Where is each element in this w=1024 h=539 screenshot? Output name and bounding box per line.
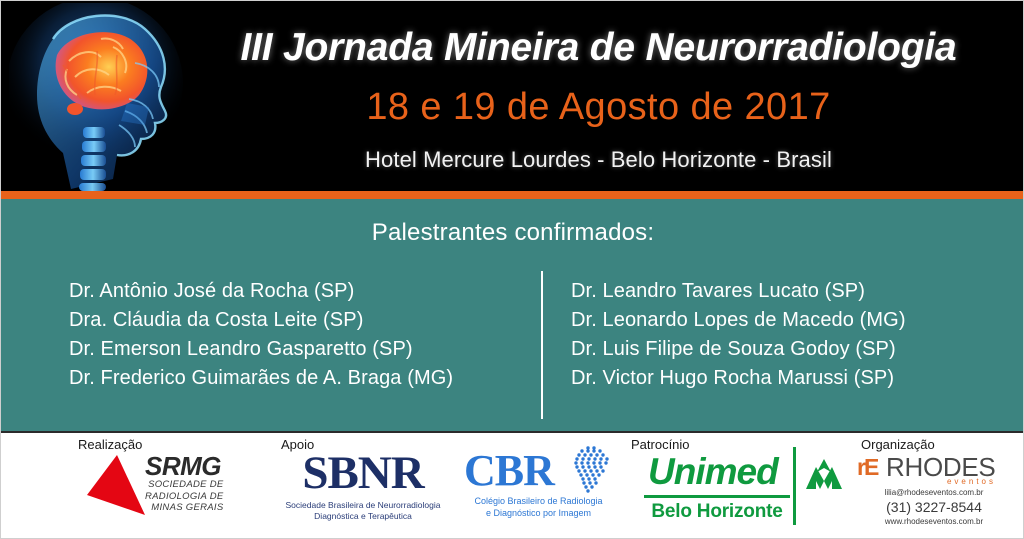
speaker-item: Dr. Emerson Leandro Gasparetto (SP) — [69, 335, 513, 364]
event-poster: III Jornada Mineira de Neurorradiologia … — [0, 0, 1024, 539]
speaker-item: Dr. Frederico Guimarães de A. Braga (MG) — [69, 364, 513, 393]
cbr-subtitle: Colégio Brasileiro de Radiologia e Diagn… — [456, 495, 621, 519]
speaker-item: Dra. Cláudia da Costa Leite (SP) — [69, 306, 513, 335]
srmg-wordmark: SRMG SOCIEDADE DE RADIOLOGIA DE MINAS GE… — [145, 453, 224, 514]
sponsor-slot-cbr: CBR — [456, 433, 621, 539]
brazil-map-dots-icon — [566, 445, 612, 497]
speaker-item: Dr. Antônio José da Rocha (SP) — [69, 277, 513, 306]
unimed-caption: Patrocínio — [631, 437, 690, 452]
sponsor-slot-srmg: Realização SRMG SOCIEDADE DE RADIOLOGIA … — [61, 433, 261, 539]
sbnr-name: SBNR — [273, 449, 453, 497]
unimed-name: Unimed — [648, 453, 778, 491]
unimed-vertical-rule — [793, 447, 796, 525]
rhodes-re-monogram-icon: rE — [857, 455, 887, 479]
speakers-column-left: Dr. Antônio José da Rocha (SP) Dra. Cláu… — [1, 277, 513, 407]
speaker-item: Dr. Luis Filipe de Souza Godoy (SP) — [571, 335, 1024, 364]
speakers-column-right: Dr. Leandro Tavares Lucato (SP) Dr. Leon… — [513, 277, 1024, 407]
orange-divider-bar — [1, 191, 1024, 199]
cbr-subtitle-line: Colégio Brasileiro de Radiologia — [456, 495, 621, 507]
sponsors-footer: Realização SRMG SOCIEDADE DE RADIOLOGIA … — [1, 433, 1024, 539]
speaker-item: Dr. Victor Hugo Rocha Marussi (SP) — [571, 364, 1024, 393]
sponsor-slot-unimed: Patrocínio Unimed Belo Horizonte — [626, 433, 846, 539]
brain-head-xray-illustration — [9, 3, 191, 191]
sponsor-slot-sbnr: Apoio SBNR Sociedade Brasileira de Neuro… — [273, 433, 453, 539]
event-date: 18 e 19 de Agosto de 2017 — [176, 86, 1021, 129]
poster-header: III Jornada Mineira de Neurorradiologia … — [1, 1, 1024, 191]
unimed-arrow-symbol-icon — [804, 459, 844, 489]
sbnr-subtitle-line: Diagnóstica e Terapêutica — [273, 511, 453, 522]
rhodes-website[interactable]: www.rhodeseventos.com.br — [849, 516, 1019, 528]
srmg-name: SRMG — [145, 453, 224, 479]
title-block: III Jornada Mineira de Neurorradiologia … — [176, 1, 1021, 191]
speakers-section: Palestrantes confirmados: Dr. Antônio Jo… — [1, 199, 1024, 431]
srmg-subtitle-line: MINAS GERAIS — [145, 502, 224, 514]
sbnr-subtitle: Sociedade Brasileira de Neurorradiologia… — [273, 500, 453, 522]
cbr-name: CBR — [464, 449, 554, 493]
cbr-subtitle-line: e Diagnóstico por Imagem — [456, 507, 621, 519]
srmg-caption: Realização — [78, 437, 142, 452]
srmg-subtitle-line: SOCIEDADE DE — [145, 479, 224, 491]
srmg-triangle-icon — [83, 455, 151, 517]
sponsor-slot-rhodes: Organização rE RHODES eventos lilia@rhod… — [849, 433, 1019, 539]
rhodes-caption: Organização — [861, 437, 935, 452]
rhodes-tagline: eventos — [886, 477, 996, 486]
speaker-item: Dr. Leandro Tavares Lucato (SP) — [571, 277, 1024, 306]
speaker-item: Dr. Leonardo Lopes de Macedo (MG) — [571, 306, 1024, 335]
rhodes-email[interactable]: lilia@rhodeseventos.com.br — [849, 487, 1019, 499]
event-title: III Jornada Mineira de Neurorradiologia — [176, 26, 1021, 70]
srmg-subtitle-line: RADIOLOGIA DE — [145, 491, 224, 503]
unimed-underline — [644, 495, 790, 498]
rhodes-contact-block: lilia@rhodeseventos.com.br (31) 3227-854… — [849, 487, 1019, 528]
event-venue: Hotel Mercure Lourdes - Belo Horizonte -… — [176, 147, 1021, 173]
sbnr-subtitle-line: Sociedade Brasileira de Neurorradiologia — [273, 500, 453, 511]
speakers-heading: Palestrantes confirmados: — [1, 219, 1024, 247]
unimed-city: Belo Horizonte — [644, 501, 790, 523]
srmg-subtitle: SOCIEDADE DE RADIOLOGIA DE MINAS GERAIS — [145, 479, 224, 514]
speakers-grid: Dr. Antônio José da Rocha (SP) Dra. Cláu… — [1, 277, 1024, 407]
rhodes-phone[interactable]: (31) 3227-8544 — [849, 499, 1019, 516]
